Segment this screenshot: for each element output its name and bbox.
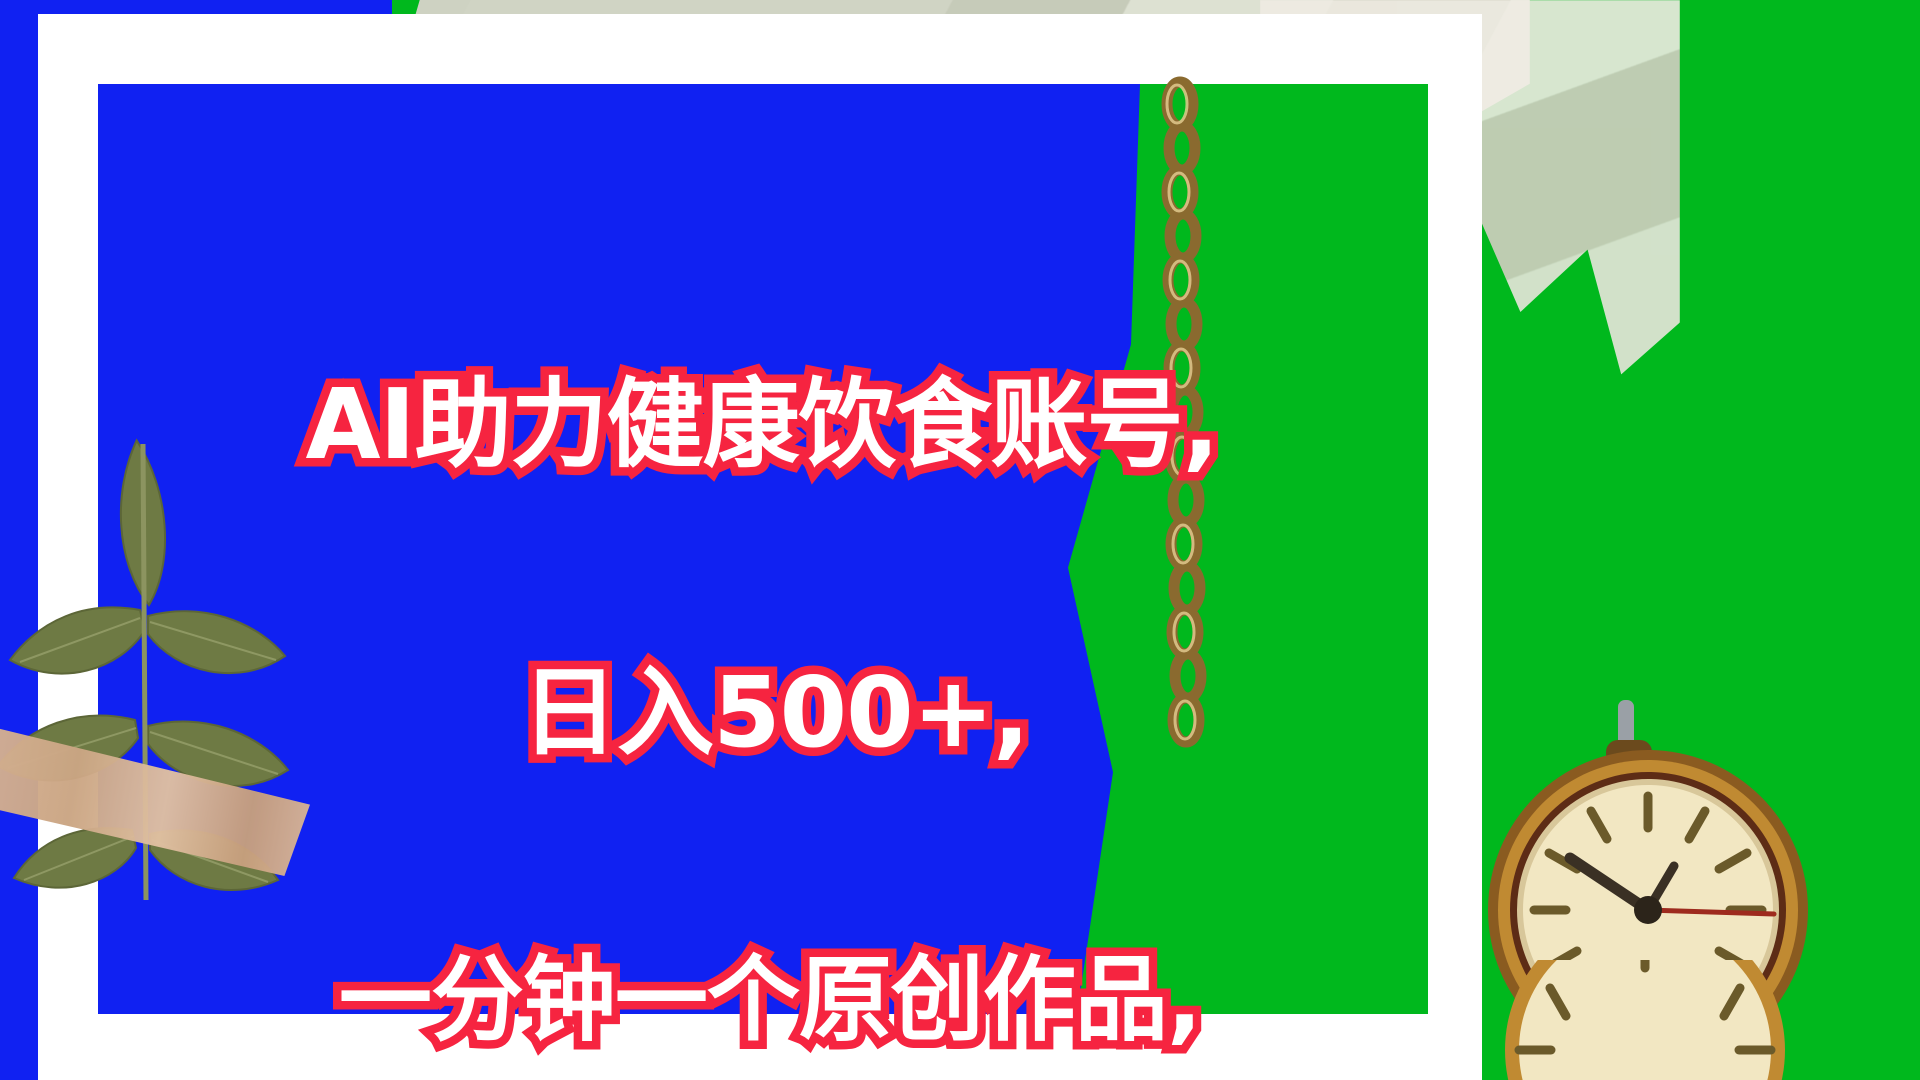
poster-headline: AI助力健康饮食账号, 日入500+, 一分钟一个原创作品, 小白轻松实现引流赚…	[0, 186, 1540, 1080]
headline-line-3: 一分钟一个原创作品,	[0, 953, 1540, 1048]
poster-canvas: AI助力健康饮食账号, 日入500+, 一分钟一个原创作品, 小白轻松实现引流赚…	[0, 0, 1920, 1080]
headline-line-1: AI助力健康饮食账号,	[0, 376, 1532, 475]
headline-line-2: 日入500+,	[5, 664, 1545, 763]
